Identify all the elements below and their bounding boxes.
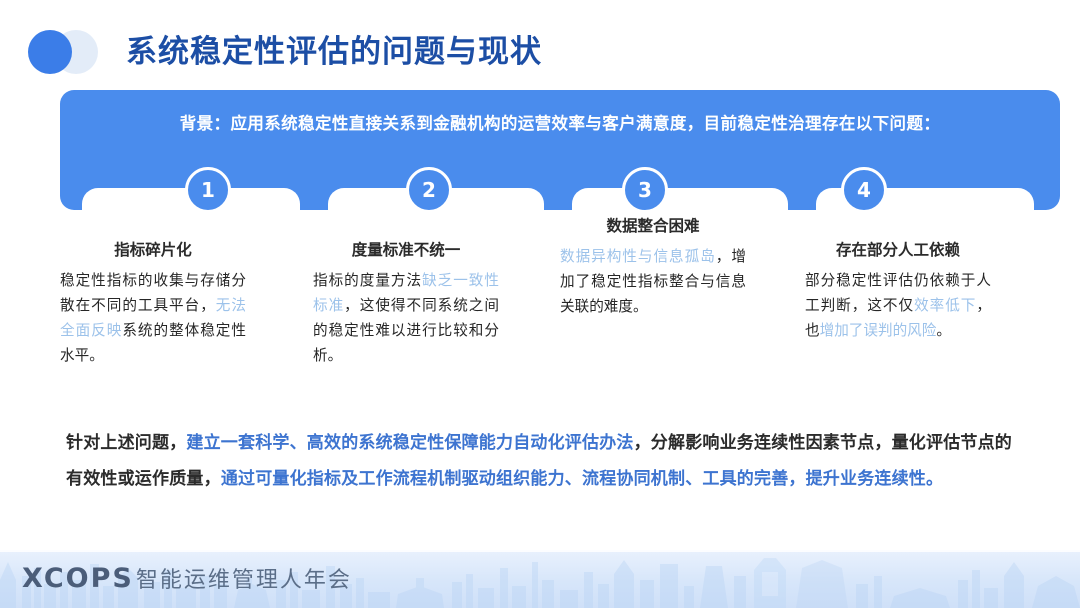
step-circle-4: 4 — [841, 167, 887, 213]
highlighted-text: 通过可量化指标及工作流程机制驱动组织能力、流程协同机制、工具的完善，提升业务连续… — [221, 469, 943, 489]
page-title: 系统稳定性评估的问题与现状 — [126, 26, 542, 71]
problem-item-body: 指标的度量方法缺乏一致性标准，这使得不同系统之间的稳定性难以进行比较和分析。 — [313, 268, 499, 368]
problem-item-4: 存在部分人工依赖 部分稳定性评估仍依赖于人工判断，这不仅效率低下，也增加了误判的… — [805, 240, 991, 343]
step-circle-1: 1 — [185, 167, 231, 213]
highlighted-text: 建立一套科学、高效的系统稳定性保障能力自动化评估办法 — [186, 433, 633, 453]
banner-text: 背景：应用系统稳定性直接关系到金融机构的运营效率与客户满意度，目前稳定性治理存在… — [60, 110, 1060, 134]
slide-footer: XCOPS智能运维管理人年会 — [0, 550, 1080, 608]
problem-item-title: 度量标准不统一 — [313, 240, 499, 260]
problem-item-3: 数据整合困难 数据异构性与信息孤岛，增加了稳定性指标整合与信息关联的难度。 — [560, 216, 746, 319]
highlighted-text: 效率低下 — [914, 297, 976, 314]
footer-brand-latin: XCOPS — [22, 563, 134, 594]
logo-circle-left — [28, 30, 72, 74]
closing-paragraph: 针对上述问题，建立一套科学、高效的系统稳定性保障能力自动化评估办法，分解影响业务… — [66, 425, 1016, 497]
two-overlapping-circles-icon — [28, 30, 106, 74]
problem-item-body: 部分稳定性评估仍依赖于人工判断，这不仅效率低下，也增加了误判的风险。 — [805, 268, 991, 343]
problem-item-2: 度量标准不统一 指标的度量方法缺乏一致性标准，这使得不同系统之间的稳定性难以进行… — [313, 240, 499, 368]
plain-text: 。 — [936, 322, 951, 339]
step-circle-2: 2 — [406, 167, 452, 213]
problem-item-body: 稳定性指标的收集与存储分散在不同的工具平台，无法全面反映系统的整体稳定性水平。 — [60, 268, 246, 368]
problem-item-title: 数据整合困难 — [560, 216, 746, 236]
step-circle-3: 3 — [622, 167, 668, 213]
footer-brand: XCOPS智能运维管理人年会 — [22, 562, 352, 594]
problem-item-title: 指标碎片化 — [60, 240, 246, 260]
plain-text: 针对上述问题， — [66, 433, 186, 453]
footer-brand-cn: 智能运维管理人年会 — [136, 568, 352, 593]
problem-item-body: 数据异构性与信息孤岛，增加了稳定性指标整合与信息关联的难度。 — [560, 244, 746, 319]
slide-header: 系统稳定性评估的问题与现状 — [0, 0, 1080, 90]
plain-text: 指标的度量方法 — [313, 272, 422, 289]
problem-item-title: 存在部分人工依赖 — [805, 240, 991, 260]
problem-item-1: 指标碎片化 稳定性指标的收集与存储分散在不同的工具平台，无法全面反映系统的整体稳… — [60, 240, 246, 368]
slide-root: 系统稳定性评估的问题与现状 背景：应用系统稳定性直接关系到金融机构的运营效率与客… — [0, 0, 1080, 608]
highlighted-text: 数据异构性与信息孤岛 — [560, 248, 716, 265]
highlighted-text: 增加了误判的风险 — [820, 322, 937, 339]
problem-columns: 指标碎片化 稳定性指标的收集与存储分散在不同的工具平台，无法全面反映系统的整体稳… — [60, 212, 1060, 412]
